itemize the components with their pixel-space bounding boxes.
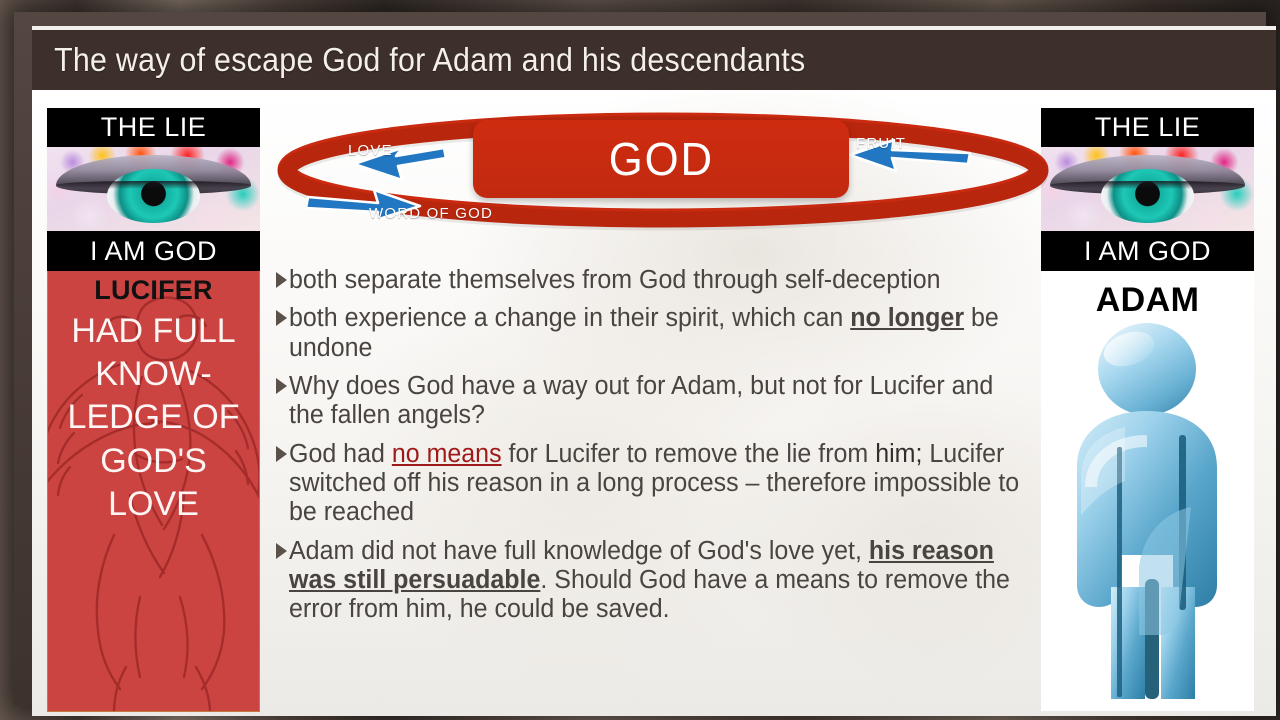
right-the-lie-label: THE LIE [1041, 108, 1254, 147]
bullet-text: both separate themselves from God throug… [289, 266, 1033, 295]
slide-frame: The way of escape God for Adam and his d… [14, 12, 1266, 706]
triangle-bullet-icon [276, 378, 287, 394]
page-title: The way of escape God for Adam and his d… [32, 41, 805, 79]
lucifer-block: LUCIFER HAD FULL KNOW- LEDGE OF GOD'S LO… [47, 271, 260, 712]
god-ring-diagram: GOD LOVE FRUIT WORD OF GOD [268, 98, 1058, 248]
god-center-box: GOD [473, 120, 849, 198]
bullet-text: God had no means for Lucifer to remove t… [289, 440, 1033, 528]
left-the-lie-label: THE LIE [47, 108, 260, 147]
emphasis-no-means: no means [392, 440, 502, 468]
emphasis-him: him; [875, 440, 922, 468]
lucifer-line: HAD FULL [48, 310, 259, 353]
blue-person-figure-icon [1041, 317, 1254, 711]
mosaic-eye-icon [47, 147, 260, 231]
adam-title: ADAM [1041, 271, 1254, 320]
lucifer-line: LEDGE OF [48, 396, 259, 439]
bullet-text: Adam did not have full knowledge of God'… [289, 537, 1033, 625]
god-label: GOD [608, 132, 713, 186]
bullet-text: Why does God have a way out for Adam, bu… [289, 372, 1033, 431]
bullet-list: both separate themselves from God throug… [276, 266, 1048, 633]
ring-label-fruit: FRUIT [856, 135, 906, 152]
left-i-am-god-label: I AM GOD [47, 231, 260, 271]
slide-stage: The way of escape God for Adam and his d… [0, 0, 1280, 720]
slide-body: THE LIE I AM GOD [32, 90, 1276, 716]
right-i-am-god-label: I AM GOD [1041, 231, 1254, 271]
bullet-item: God had no means for Lucifer to remove t… [276, 440, 1048, 528]
emphasis-no-longer: no longer [850, 304, 964, 332]
lucifer-line: GOD'S [48, 440, 259, 483]
bullet-item: both experience a change in their spirit… [276, 304, 1048, 363]
lucifer-statement: HAD FULL KNOW- LEDGE OF GOD'S LOVE [48, 306, 259, 526]
lucifer-line: KNOW- [48, 353, 259, 396]
triangle-bullet-icon [276, 310, 287, 326]
left-panel-lucifer: THE LIE I AM GOD [47, 108, 260, 712]
slide: The way of escape God for Adam and his d… [32, 26, 1276, 716]
mosaic-eye-icon [1041, 147, 1254, 231]
slide-title-bar: The way of escape God for Adam and his d… [32, 30, 1276, 90]
right-panel-adam: THE LIE I AM GOD ADAM [1041, 108, 1254, 711]
lucifer-title: LUCIFER [48, 271, 259, 306]
ring-label-love: LOVE [348, 142, 393, 159]
adam-block: ADAM [1041, 271, 1254, 711]
triangle-bullet-icon [276, 446, 287, 462]
ring-label-word-of-god: WORD OF GOD [369, 205, 493, 222]
triangle-bullet-icon [276, 543, 287, 559]
bullet-item: Adam did not have full knowledge of God'… [276, 537, 1048, 625]
lucifer-line: LOVE [48, 483, 259, 526]
bullet-item: Why does God have a way out for Adam, bu… [276, 372, 1048, 431]
triangle-bullet-icon [276, 272, 287, 288]
bullet-text: both experience a change in their spirit… [289, 304, 1033, 363]
bullet-item: both separate themselves from God throug… [276, 266, 1048, 295]
